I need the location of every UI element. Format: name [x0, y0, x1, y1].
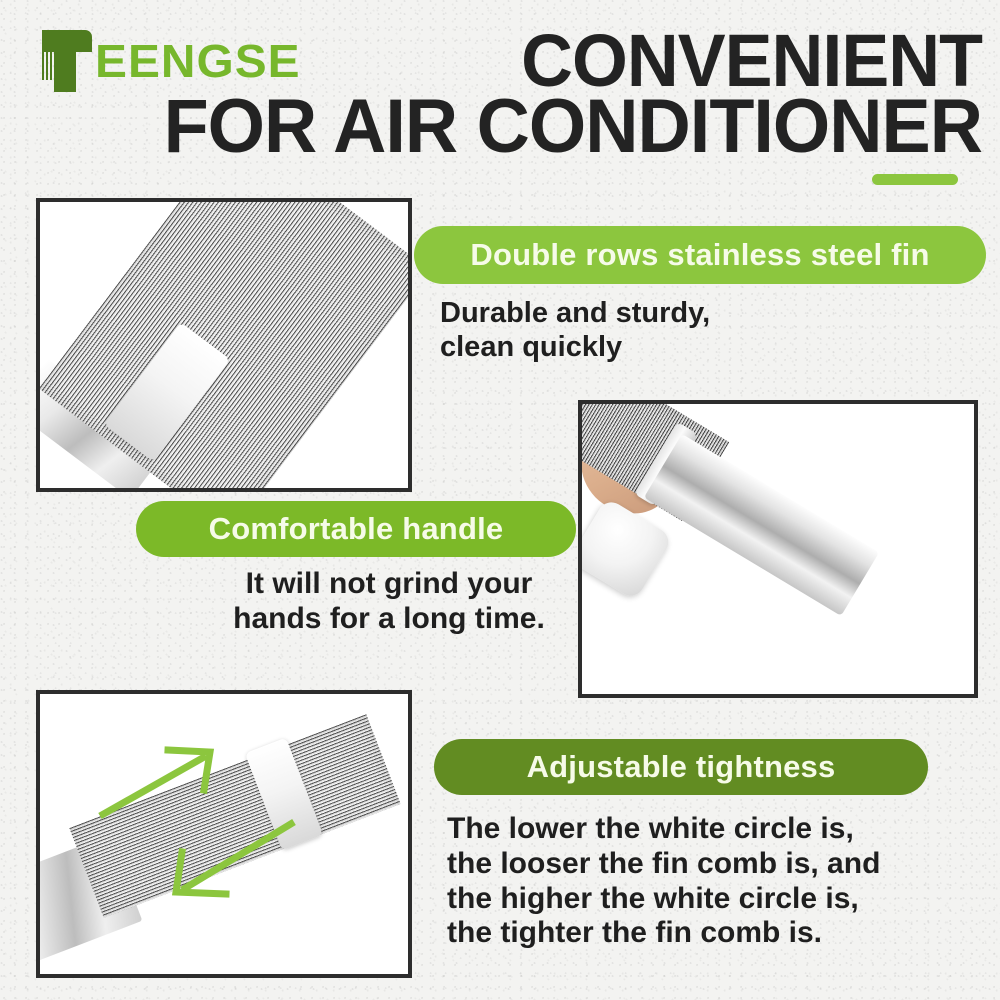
photo-sliding-collar	[36, 690, 412, 978]
headline: CONVENIENT FOR AIR CONDITIONER	[92, 28, 982, 185]
logo-t-mark-icon	[34, 30, 92, 92]
feature-description-comfortable-handle: It will not grind your hands for a long …	[224, 567, 554, 637]
photo-handle-in-hand	[578, 400, 978, 698]
white-end-cap	[578, 497, 673, 601]
description-line: the higher the white circle is,	[447, 882, 880, 917]
description-line: It will not grind your	[224, 567, 554, 602]
description-line: Durable and sturdy,	[440, 297, 710, 331]
feature-pill-double-rows: Double rows stainless steel fin	[414, 226, 986, 284]
headline-accent-bar	[872, 174, 958, 185]
feature-pill-comfortable-handle: Comfortable handle	[136, 501, 576, 557]
feature-description-double-rows: Durable and sturdy, clean quickly	[440, 297, 710, 364]
feature-pill-adjustable-tightness: Adjustable tightness	[434, 739, 928, 795]
arrow-up-right-icon	[98, 746, 228, 826]
feature-description-adjustable-tightness: The lower the white circle is, the loose…	[447, 812, 880, 951]
description-line: clean quickly	[440, 331, 710, 365]
headline-line-2: FOR AIR CONDITIONER	[119, 94, 982, 160]
description-line: hands for a long time.	[224, 602, 554, 637]
description-line: the tighter the fin comb is.	[447, 916, 880, 951]
description-line: the looser the fin comb is, and	[447, 847, 880, 882]
arrow-down-left-icon	[162, 816, 302, 906]
description-line: The lower the white circle is,	[447, 812, 880, 847]
photo-fin-closeup	[36, 198, 412, 492]
comb-metal-handle	[644, 434, 879, 616]
